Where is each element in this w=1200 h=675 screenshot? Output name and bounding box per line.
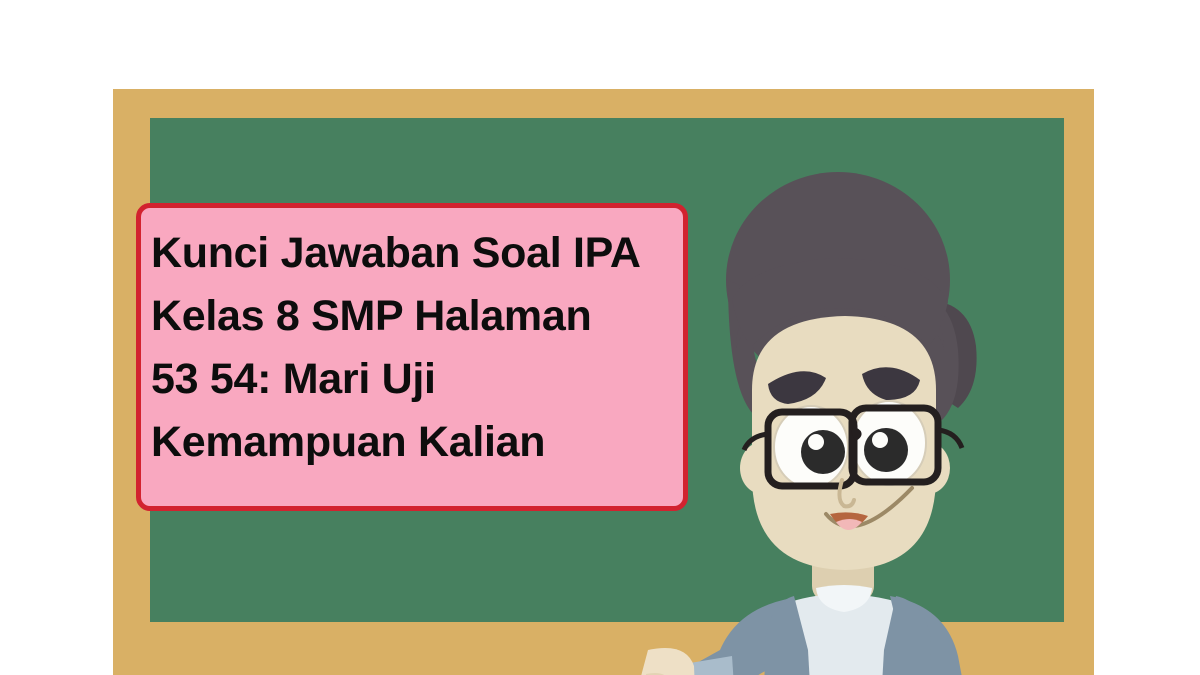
poster-canvas: Kunci Jawaban Soal IPA Kelas 8 SMP Halam… [0, 0, 1200, 675]
eye-right [852, 401, 926, 485]
headline-callout: Kunci Jawaban Soal IPA Kelas 8 SMP Halam… [136, 203, 688, 511]
eye-left [774, 406, 848, 488]
hand-left-fist [640, 648, 696, 675]
page-title: Kunci Jawaban Soal IPA Kelas 8 SMP Halam… [151, 222, 665, 474]
cartoon-student-illustration [640, 150, 1060, 675]
